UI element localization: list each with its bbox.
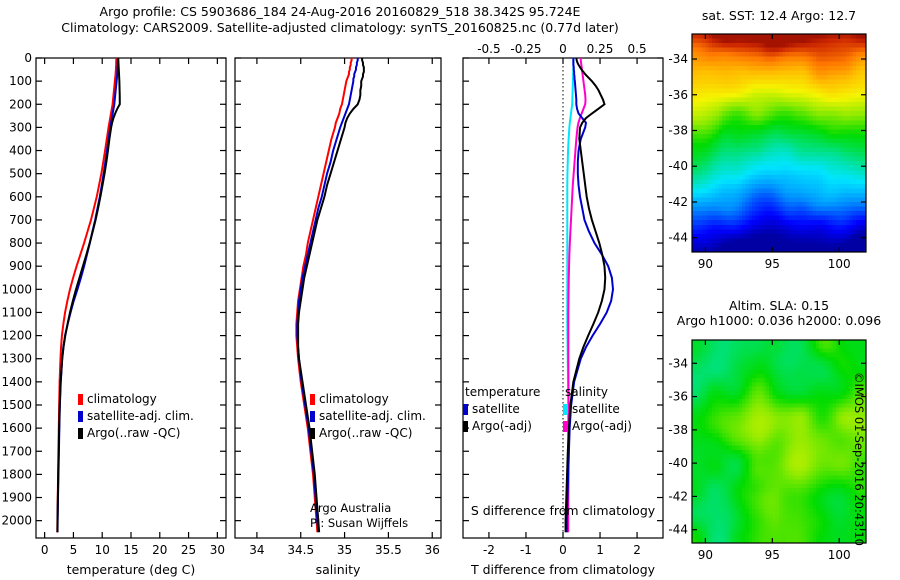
x-tick-label: 34.5 (287, 543, 314, 557)
x-tick-label: 5 (70, 543, 78, 557)
x-tick-label: 34 (249, 543, 264, 557)
series-line (57, 58, 116, 532)
map-y-tick-label: -42 (668, 195, 688, 209)
salinity-legend-label: climatology (319, 392, 389, 406)
temperature-legend-label: climatology (87, 392, 157, 406)
salinity-legend-label: Argo(..raw -QC) (319, 426, 412, 440)
x-tick-top-label: 0 (559, 42, 567, 56)
x-tick-label: 0 (41, 543, 49, 557)
salinity-legend-swatch (310, 394, 315, 405)
salinity-panel: 3434.53535.536salinityclimatologysatelli… (215, 40, 455, 580)
depth-tick-label: 1300 (1, 352, 32, 366)
depth-tick-label: 1500 (1, 398, 32, 412)
x-tick-label: -2 (483, 543, 495, 557)
x-tick-label: 1 (596, 543, 604, 557)
map-y-tick-label: -38 (668, 423, 688, 437)
map-x-tick-label: 90 (698, 257, 713, 271)
temperature-legend-label: satellite-adj. clim. (87, 409, 194, 423)
salinity-diff-legend-label: Argo(-adj) (572, 419, 632, 433)
map-y-tick-label: -44 (668, 231, 688, 245)
salinity-diff-legend-swatch (563, 404, 568, 415)
temperature-legend-swatch (78, 428, 83, 439)
series-line (567, 58, 613, 532)
temperature-diff-legend-swatch (463, 421, 468, 432)
salinity-legend-label: satellite-adj. clim. (319, 409, 426, 423)
depth-tick-label: 500 (9, 167, 32, 181)
map-y-tick-label: -42 (668, 489, 688, 503)
depth-tick-label: 800 (9, 236, 32, 250)
depth-tick-label: 1600 (1, 421, 32, 435)
x-tick-top-label: 0.5 (628, 42, 647, 56)
title-line-2: Climatology: CARS2009. Satellite-adjuste… (0, 20, 680, 36)
temperature-panel: 0100200300400500600700800900100011001200… (0, 40, 240, 580)
x-tick-top-label: 0.25 (587, 42, 614, 56)
depth-tick-label: 2000 (1, 514, 32, 528)
title-line-1: Argo profile: CS 5903686_184 24-Aug-2016… (0, 4, 680, 20)
x-axis-label: salinity (316, 562, 361, 577)
x-tick-label: 35.5 (375, 543, 402, 557)
temperature-legend-swatch (78, 411, 83, 422)
salinity-plot: 3434.53535.536salinityclimatologysatelli… (215, 40, 455, 580)
x-tick-label: 10 (95, 543, 110, 557)
x-axis-label: T difference from climatology (470, 562, 656, 577)
x-axis-label: temperature (deg C) (67, 562, 196, 577)
org-label: Argo Australia (310, 501, 391, 515)
map-raster (692, 340, 867, 544)
map-y-tick-label: -38 (668, 123, 688, 137)
depth-tick-label: 200 (9, 97, 32, 111)
x-tick-top-label: -0.25 (510, 42, 541, 56)
page-title: Argo profile: CS 5903686_184 24-Aug-2016… (0, 4, 680, 36)
map-header: Argo h1000: 0.036 h2000: 0.096 (677, 313, 881, 328)
x-tick-label: 35 (337, 543, 352, 557)
map-x-tick-label: 100 (828, 548, 851, 562)
depth-tick-label: 1200 (1, 329, 32, 343)
depth-tick-label: 1400 (1, 375, 32, 389)
depth-tick-label: 0 (24, 51, 32, 65)
plot-frame (36, 58, 226, 538)
temperature-diff-legend-swatch (463, 404, 468, 415)
map-x-tick-label: 90 (698, 548, 713, 562)
copyright-label: ©IMOS 01-Sep-2016 20:43:10 (852, 372, 866, 546)
depth-tick-label: 1900 (1, 491, 32, 505)
x-tick-label: 36 (425, 543, 440, 557)
temperature-diff-legend-label: satellite (472, 402, 520, 416)
x-tick-label: 15 (123, 543, 138, 557)
salinity-diff-legend-header: salinity (565, 385, 608, 399)
x-tick-label: -1 (520, 543, 532, 557)
salinity-legend-swatch (310, 428, 315, 439)
depth-tick-label: 400 (9, 144, 32, 158)
depth-tick-label: 1700 (1, 444, 32, 458)
map-y-tick-label: -36 (668, 390, 688, 404)
temperature-legend-label: Argo(..raw -QC) (87, 426, 180, 440)
difference-plot: -2-1012-0.5-0.2500.250.5T difference fro… (445, 40, 680, 580)
depth-tick-label: 900 (9, 259, 32, 273)
temperature-diff-legend-label: Argo(-adj) (472, 419, 532, 433)
temperature-plot: 0100200300400500600700800900100011001200… (0, 40, 240, 580)
depth-tick-label: 1100 (1, 305, 32, 319)
pi-label: PI: Susan Wijffels (310, 516, 408, 530)
series-line (297, 58, 357, 532)
x-tick-label: 2 (633, 543, 641, 557)
map-x-tick-label: 95 (765, 257, 780, 271)
map-y-tick-label: -36 (668, 88, 688, 102)
salinity-diff-legend-label: satellite (572, 402, 620, 416)
depth-tick-label: 300 (9, 120, 32, 134)
salinity-legend-swatch (310, 411, 315, 422)
map-y-tick-label: -44 (668, 523, 688, 537)
map-y-tick-label: -34 (668, 356, 688, 370)
series-line (298, 58, 364, 532)
depth-tick-label: 600 (9, 190, 32, 204)
plot-frame (235, 58, 441, 538)
x-tick-label: 20 (152, 543, 167, 557)
difference-panel: -2-1012-0.5-0.2500.250.5T difference fro… (445, 40, 680, 580)
map-header: Altim. SLA: 0.15 (729, 298, 829, 313)
depth-tick-label: 100 (9, 74, 32, 88)
temperature-diff-legend-header: temperature (465, 385, 540, 399)
map-y-tick-label: -34 (668, 52, 688, 66)
depth-tick-label: 1000 (1, 282, 32, 296)
sst-map-panel: sat. SST: 12.4 Argo: 12.79095100-34-36-3… (660, 4, 900, 294)
sst-map: sat. SST: 12.4 Argo: 12.79095100-34-36-3… (660, 4, 900, 294)
series-line (57, 58, 119, 532)
map-raster (692, 34, 867, 253)
depth-tick-label: 700 (9, 213, 32, 227)
x-axis-top-label: S difference from climatology (471, 503, 656, 518)
series-line (568, 58, 585, 532)
temperature-legend-swatch (78, 394, 83, 405)
map-y-tick-label: -40 (668, 159, 688, 173)
map-y-tick-label: -40 (668, 456, 688, 470)
map-header: sat. SST: 12.4 Argo: 12.7 (702, 8, 856, 23)
depth-tick-label: 1800 (1, 467, 32, 481)
map-x-tick-label: 100 (828, 257, 851, 271)
x-tick-top-label: -0.5 (477, 42, 500, 56)
salinity-diff-legend-swatch (563, 421, 568, 432)
map-x-tick-label: 95 (765, 548, 780, 562)
x-tick-label: 0 (559, 543, 567, 557)
x-tick-label: 25 (181, 543, 196, 557)
